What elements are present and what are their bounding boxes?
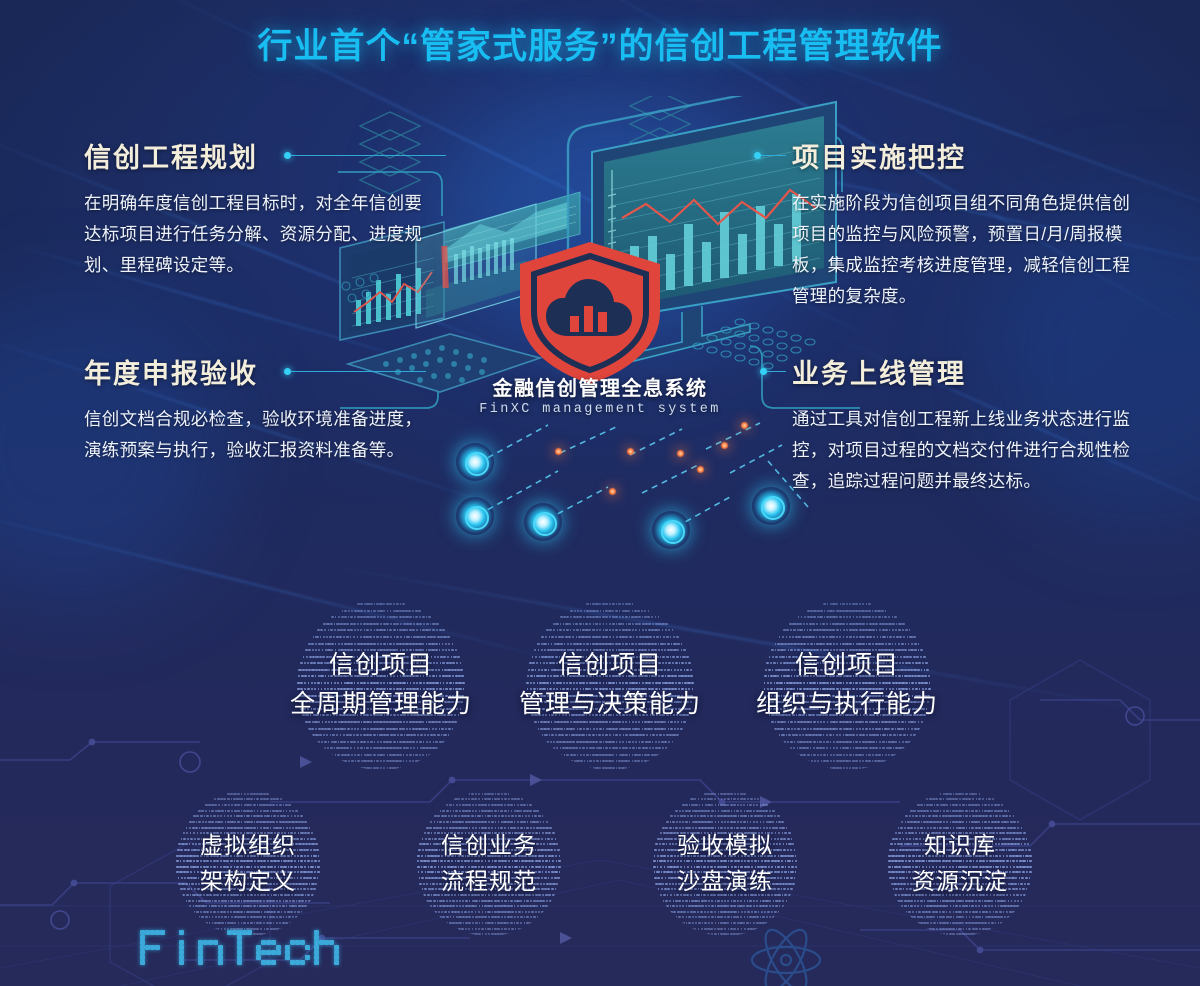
globe-dot: [504, 810, 507, 812]
globe-dot: [344, 616, 347, 618]
globe-dot: [406, 728, 408, 730]
globe-dot: [221, 821, 223, 823]
leader-dot-bottom-left: [284, 368, 291, 375]
globe-dot: [286, 916, 288, 918]
globe-dot: [254, 798, 256, 800]
globe-dot: [816, 623, 818, 625]
globe-dot: [254, 922, 256, 924]
globe-dot: [383, 760, 385, 762]
globe-dot: [250, 905, 252, 907]
globe-dot: [612, 760, 614, 762]
globe-dot: [817, 616, 819, 618]
globe-dot: [196, 821, 198, 823]
globe-dot: [829, 643, 832, 645]
globe-dot: [459, 905, 461, 907]
globe-dot: [833, 734, 835, 736]
globe-dot: [605, 629, 608, 631]
globe-dot: [501, 793, 503, 795]
globe-dot: [603, 623, 605, 625]
globe-dot: [403, 754, 405, 756]
globe-dot: [370, 760, 373, 762]
globe-dot: [331, 643, 334, 645]
globe-dot: [823, 603, 826, 605]
globe-dot: [658, 616, 660, 618]
globe-dot: [324, 629, 326, 631]
globe-dot: [390, 623, 392, 625]
globe-dot: [343, 741, 346, 743]
feature-body: 在明确年度信创工程目标时，对全年信创要达标项目进行任务分解、资源分配、进度规划、…: [84, 188, 436, 281]
globe-dot: [546, 900, 548, 902]
globe-dot: [406, 636, 409, 638]
globe-dot: [501, 916, 503, 918]
globe-dot: [527, 821, 529, 823]
globe-dot: [370, 747, 372, 749]
globe-dot: [508, 900, 510, 902]
globe-dot: [213, 911, 216, 913]
globe-dot: [600, 760, 602, 762]
globe-dot: [237, 905, 240, 907]
globe-dot: [468, 798, 470, 800]
globe-dot: [459, 900, 461, 902]
globe-dot: [576, 636, 578, 638]
globe-dot: [908, 728, 910, 730]
globe-dot: [420, 747, 422, 749]
globe-dot: [879, 747, 881, 749]
globe-dot: [826, 760, 829, 762]
globe-dot: [812, 623, 815, 625]
globe-dot: [527, 804, 529, 806]
globe-dot: [814, 760, 816, 762]
globe-dot: [266, 810, 269, 812]
globe-dot: [808, 760, 810, 762]
globe-dot: [885, 629, 888, 631]
globe-dot: [810, 643, 813, 645]
globe-dot: [526, 916, 529, 918]
globe-dot: [865, 728, 868, 730]
globe-dot: [635, 741, 637, 743]
globe-dot: [555, 636, 557, 638]
globe-dot: [637, 760, 640, 762]
globe-dot: [542, 900, 545, 902]
globe-dot: [363, 728, 366, 730]
globe-dot: [824, 610, 826, 612]
globe-dot: [217, 821, 220, 823]
globe-dot: [436, 747, 438, 749]
globe-dot: [907, 636, 909, 638]
globe-dot: [492, 911, 494, 913]
globe-dot: [402, 728, 405, 730]
globe-dot: [283, 804, 285, 806]
globe-dot: [869, 728, 871, 730]
globe-dot: [549, 900, 552, 902]
globe-dot: [504, 916, 506, 918]
globe-dot: [370, 603, 373, 605]
globe-dot: [508, 793, 510, 795]
globe-dot: [364, 747, 366, 749]
globe-dot: [821, 760, 823, 762]
feature-body: 在实施阶段为信创项目组不同角色提供信创项目的监控与风险预警，预置日/月/周报模板…: [792, 188, 1144, 312]
globe-dot: [205, 922, 208, 924]
globe-dot: [865, 747, 868, 749]
globe-dot: [383, 754, 385, 756]
globe-dot: [196, 815, 199, 817]
globe-dot: [866, 603, 868, 605]
globe-dot: [622, 741, 624, 743]
globe-dot: [288, 804, 291, 806]
network-node: [652, 511, 690, 549]
globe-dot: [332, 734, 335, 736]
globe-dot: [364, 603, 366, 605]
globe-dot: [869, 636, 872, 638]
globe-dot: [491, 793, 494, 795]
globe-dot: [525, 815, 527, 817]
globe-dot: [632, 623, 634, 625]
globe-dot: [544, 734, 547, 736]
globe-dot: [609, 734, 611, 736]
globe-dot: [357, 636, 359, 638]
globe-dot: [426, 643, 428, 645]
globe-dot: [812, 636, 815, 638]
globe-dot: [580, 754, 582, 756]
globe-dot: [541, 911, 544, 913]
globe-dot: [452, 728, 454, 730]
globe-dot: [256, 911, 259, 913]
globe-dot: [645, 747, 648, 749]
globe-dot: [218, 804, 220, 806]
globe-dot: [540, 821, 542, 823]
globe-dot: [276, 804, 278, 806]
globe-dot: [423, 636, 426, 638]
globe-dot: [853, 616, 855, 618]
globe-dot: [579, 728, 582, 730]
globe-dot: [543, 643, 546, 645]
globe-dot: [495, 821, 497, 823]
globe-dot: [532, 905, 535, 907]
globe-dot: [366, 629, 369, 631]
globe-dot: [595, 741, 598, 743]
globe-dot: [667, 643, 670, 645]
globe-dot: [444, 911, 447, 913]
globe-dot: [895, 728, 897, 730]
globe-dot: [199, 916, 201, 918]
globe-dot: [648, 741, 651, 743]
globe-dot: [612, 629, 614, 631]
network-spark: [696, 465, 705, 474]
globe-dot: [297, 911, 300, 913]
globe-dot: [504, 798, 507, 800]
globe-dot: [674, 728, 676, 730]
globe-dot: [855, 767, 858, 769]
globe-dot: [335, 754, 337, 756]
globe-dot: [913, 734, 916, 736]
globe-dot: [616, 741, 618, 743]
globe-dot: [361, 760, 363, 762]
globe-dot: [908, 741, 911, 743]
globe-dot: [315, 728, 317, 730]
globe-dot: [337, 754, 340, 756]
globe-dot: [443, 734, 446, 736]
globe-dot: [225, 810, 227, 812]
globe-dot: [399, 760, 402, 762]
globe-dot: [893, 636, 895, 638]
globe-dot: [599, 629, 601, 631]
leader-line-bottom-left: [288, 371, 426, 372]
globe-dot: [580, 629, 582, 631]
globe-dot: [209, 916, 211, 918]
globe-dot: [284, 911, 286, 913]
globe-dot: [213, 815, 216, 817]
globe-dot: [202, 821, 204, 823]
globe-dot: [276, 821, 278, 823]
globe-dot: [456, 916, 458, 918]
globe-dot: [479, 810, 481, 812]
globe-dot: [619, 629, 621, 631]
globe-dot: [586, 643, 589, 645]
globe-dot: [853, 754, 855, 756]
globe-dot: [225, 821, 227, 823]
globe-dot: [426, 741, 428, 743]
globe-dot: [579, 616, 582, 618]
globe-dot: [609, 629, 611, 631]
globe-dot: [259, 922, 262, 924]
globe-dot: [346, 623, 349, 625]
globe-dot: [899, 734, 902, 736]
globe-dot: [537, 916, 539, 918]
globe-dot: [419, 616, 421, 618]
globe-dot: [475, 810, 477, 812]
globe-dot: [240, 815, 243, 817]
globe-dot: [886, 747, 888, 749]
globe-dot: [215, 821, 217, 823]
globe-dot: [803, 728, 806, 730]
globe-dot: [839, 636, 841, 638]
globe-dot: [379, 728, 382, 730]
globe-dot: [442, 900, 445, 902]
globe-dot: [530, 916, 532, 918]
globe-dot: [827, 754, 829, 756]
globe-dot: [332, 728, 334, 730]
globe-dot: [616, 767, 618, 769]
globe-dot: [406, 629, 408, 631]
globe-dot: [475, 793, 477, 795]
globe-dot: [464, 911, 467, 913]
globe-dot: [313, 636, 315, 638]
globe-dot: [551, 636, 554, 638]
globe-dot: [501, 900, 503, 902]
globe-dot: [380, 741, 382, 743]
globe-dot: [529, 804, 532, 806]
globe-dot: [288, 916, 291, 918]
globe-dot: [360, 636, 362, 638]
globe-dot: [228, 804, 230, 806]
globe-dot: [479, 905, 481, 907]
globe-dot: [807, 629, 809, 631]
globe-dot: [221, 922, 224, 924]
globe-dot: [350, 636, 352, 638]
globe-dot: [335, 643, 337, 645]
globe-dot: [350, 643, 353, 645]
globe-dot: [629, 767, 631, 769]
globe-dot: [846, 636, 848, 638]
globe-dot: [786, 629, 789, 631]
globe-dot: [888, 754, 890, 756]
network-spark: [554, 447, 563, 456]
globe-dot: [241, 810, 243, 812]
globe-dot: [446, 821, 449, 823]
globe-dot: [455, 810, 458, 812]
globe-dot: [357, 728, 359, 730]
globe-dot: [386, 623, 389, 625]
globe-dot: [413, 754, 415, 756]
globe-dot: [893, 734, 896, 736]
globe-dot: [822, 636, 825, 638]
globe-dot: [442, 643, 444, 645]
globe-dot: [590, 728, 592, 730]
globe-dot: [250, 810, 253, 812]
globe-dot: [628, 629, 631, 631]
globe-dot: [285, 900, 288, 902]
globe-dot: [911, 728, 913, 730]
globe-dot: [636, 747, 638, 749]
globe-dot: [655, 616, 657, 618]
globe-dot: [676, 636, 679, 638]
globe-dot: [289, 900, 291, 902]
globe-dot: [488, 916, 490, 918]
sphere-label-line2: 架构定义: [143, 863, 353, 899]
globe-dot: [317, 741, 320, 743]
globe-dot: [629, 754, 631, 756]
globe-dot: [895, 643, 897, 645]
globe-dot: [413, 734, 416, 736]
globe-dot: [429, 741, 431, 743]
globe-dot: [494, 810, 497, 812]
globe-dot: [568, 636, 571, 638]
globe-dot: [234, 900, 236, 902]
globe-dot: [360, 629, 362, 631]
globe-dot: [209, 905, 211, 907]
globe-dot: [377, 741, 379, 743]
globe-dot: [374, 629, 376, 631]
globe-dot: [584, 760, 586, 762]
globe-dot: [839, 754, 842, 756]
globe-dot: [536, 905, 538, 907]
globe-dot: [296, 900, 298, 902]
leader-line-bottom-right: [764, 371, 786, 372]
globe-dot: [616, 623, 618, 625]
globe-dot: [241, 804, 243, 806]
globe-dot: [810, 747, 812, 749]
globe-dot: [494, 815, 497, 817]
globe-dot: [474, 798, 477, 800]
globe-dot: [561, 754, 563, 756]
globe-dot: [422, 643, 424, 645]
globe-dot: [830, 623, 832, 625]
leader-dot-top-left: [284, 152, 291, 159]
globe-dot: [879, 741, 881, 743]
globe-dot: [194, 911, 196, 913]
globe-dot: [432, 728, 434, 730]
globe-dot: [224, 900, 227, 902]
globe-dot: [517, 798, 520, 800]
globe-dot: [638, 616, 641, 618]
globe-dot: [377, 610, 379, 612]
globe-dot: [263, 900, 265, 902]
globe-dot: [887, 636, 889, 638]
globe-dot: [615, 734, 618, 736]
globe-dot: [230, 815, 232, 817]
globe-dot: [785, 728, 787, 730]
globe-dot: [272, 916, 275, 918]
globe-dot: [549, 629, 552, 631]
globe-dot: [234, 821, 236, 823]
globe-dot: [366, 754, 369, 756]
globe-dot: [326, 734, 328, 736]
globe-dot: [478, 911, 480, 913]
globe-dot: [419, 623, 422, 625]
globe-dot: [350, 616, 353, 618]
globe-dot: [603, 728, 605, 730]
globe-dot: [566, 754, 569, 756]
globe-dot: [369, 636, 372, 638]
globe-dot: [462, 905, 464, 907]
globe-dot: [540, 905, 542, 907]
globe-dot: [360, 747, 363, 749]
globe-dot: [420, 629, 422, 631]
globe-dot: [347, 741, 349, 743]
globe-dot: [425, 629, 428, 631]
globe-dot: [418, 610, 421, 612]
globe-dot: [230, 911, 232, 913]
globe-dot: [373, 734, 376, 736]
globe-dot: [615, 610, 618, 612]
globe-dot: [415, 616, 418, 618]
globe-dot: [872, 616, 874, 618]
globe-dot: [793, 747, 795, 749]
globe-dot: [881, 643, 884, 645]
globe-dot: [888, 747, 891, 749]
globe-dot: [218, 900, 220, 902]
globe-dot: [859, 616, 861, 618]
globe-dot: [212, 922, 214, 924]
globe-dot: [859, 741, 861, 743]
globe-dot: [484, 821, 487, 823]
globe-dot: [360, 610, 363, 612]
globe-dot: [629, 636, 632, 638]
globe-dot: [859, 767, 861, 769]
globe-dot: [350, 629, 353, 631]
globe-dot: [826, 636, 828, 638]
globe-dot: [373, 616, 376, 618]
globe-dot: [400, 734, 403, 736]
globe-dot: [797, 747, 799, 749]
globe-dot: [670, 636, 672, 638]
globe-dot: [846, 767, 848, 769]
globe-dot: [330, 629, 333, 631]
globe-dot: [240, 798, 243, 800]
globe-dot: [217, 911, 219, 913]
globe-dot: [586, 728, 589, 730]
globe-dot: [833, 747, 835, 749]
globe-dot: [254, 821, 256, 823]
globe-dot: [456, 905, 458, 907]
globe-dot: [537, 643, 540, 645]
globe-dot: [653, 636, 655, 638]
globe-dot: [579, 643, 582, 645]
globe-dot: [862, 636, 865, 638]
globe-dot: [254, 810, 256, 812]
globe-dot: [849, 767, 851, 769]
globe-dot: [459, 810, 461, 812]
